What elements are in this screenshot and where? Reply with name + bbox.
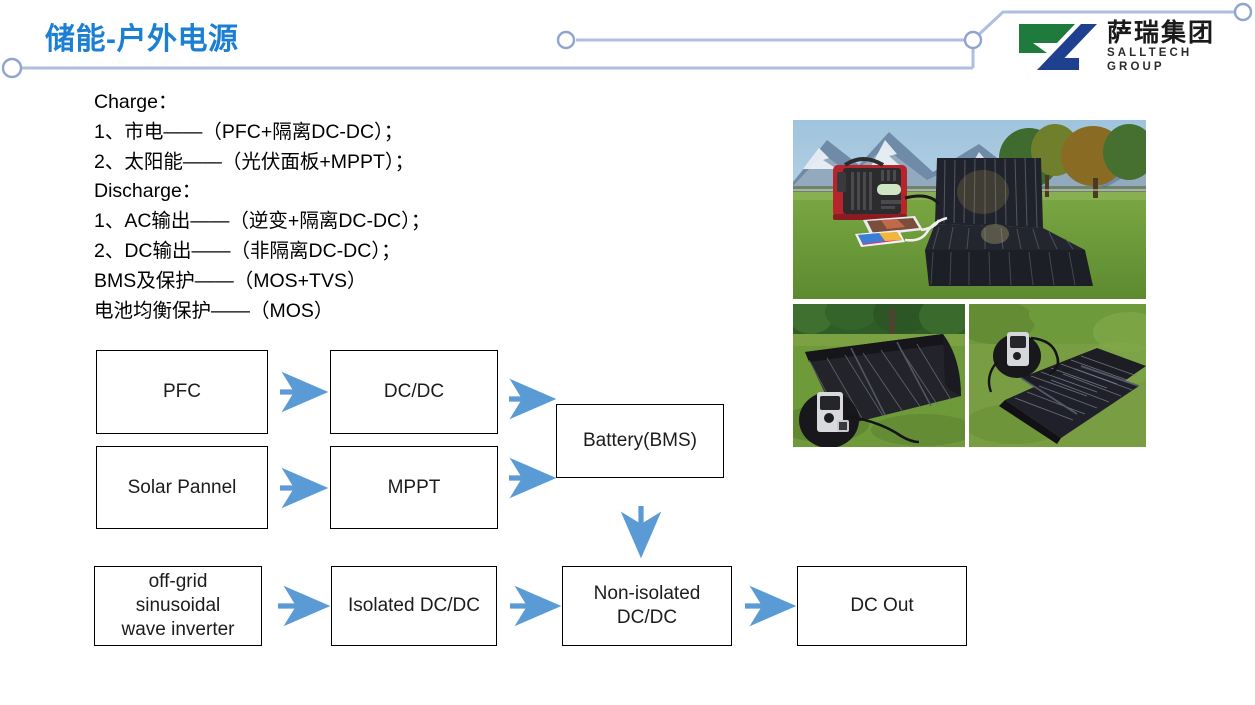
salltech-logo-mark — [1013, 20, 1099, 74]
logo-text-block: 萨瑞集团 SALLTECH GROUP — [1107, 20, 1245, 75]
company-logo: 萨瑞集团 SALLTECH GROUP — [1013, 18, 1245, 76]
flow-node-inverter-line1: off-grid — [149, 571, 208, 592]
flow-node-battery-bms[interactable]: Battery(BMS) — [556, 404, 724, 478]
flow-node-inverter-line2: sinusoidal — [136, 595, 221, 616]
flow-node-pfc-label: PFC — [163, 380, 201, 404]
spec-line-cell-balance: 电池均衡保护——（MOS） — [94, 297, 564, 327]
flow-node-isolated-dcdc[interactable]: Isolated DC/DC — [331, 566, 497, 646]
photo-folded-solar-panel — [793, 304, 965, 447]
flow-node-dc-out[interactable]: DC Out — [797, 566, 967, 646]
flow-node-dc-out-label: DC Out — [850, 594, 913, 618]
spec-line-mains: 1、市电——（PFC+隔离DC-DC）； — [94, 118, 564, 148]
flow-node-inverter-label: off-grid sinusoidal wave inverter — [122, 570, 235, 642]
flow-node-solar-pannel[interactable]: Solar Pannel — [96, 446, 268, 529]
flow-node-mppt[interactable]: MPPT — [330, 446, 498, 529]
flow-node-non-isolated-dcdc[interactable]: Non-isolated DC/DC — [562, 566, 732, 646]
logo-name-en: SALLTECH GROUP — [1107, 47, 1245, 75]
flow-node-dcdc[interactable]: DC/DC — [330, 350, 498, 434]
flow-node-mppt-label: MPPT — [388, 476, 441, 500]
flow-node-solar-pannel-label: Solar Pannel — [128, 476, 237, 500]
spec-line-bms-protection: BMS及保护——（MOS+TVS） — [94, 267, 564, 297]
product-photo-group — [793, 120, 1146, 447]
photo-power-station-outdoor — [793, 120, 1146, 299]
page-title: 储能-户外电源 — [45, 14, 239, 58]
spec-line-charge-heading: Charge： — [94, 88, 564, 118]
specification-text: Charge： 1、市电——（PFC+隔离DC-DC）； 2、太阳能——（光伏面… — [94, 88, 564, 327]
flow-node-non-isolated-line2: DC/DC — [617, 607, 677, 628]
spec-line-discharge-heading: Discharge： — [94, 177, 564, 207]
flow-node-non-isolated-line1: Non-isolated — [594, 583, 701, 604]
flow-node-dcdc-label: DC/DC — [384, 380, 444, 404]
flow-node-inverter-line3: wave inverter — [122, 619, 235, 640]
flow-node-non-isolated-dcdc-label: Non-isolated DC/DC — [594, 582, 701, 630]
logo-name-cn: 萨瑞集团 — [1107, 20, 1245, 46]
flow-node-battery-bms-label: Battery(BMS) — [583, 429, 697, 453]
spec-line-solar: 2、太阳能——（光伏面板+MPPT）； — [94, 148, 564, 178]
spec-line-ac-output: 1、AC输出——（逆变+隔离DC-DC）； — [94, 207, 564, 237]
slide-canvas: 储能-户外电源 萨瑞集团 SALLTECH GROUP Charge： 1、市电… — [0, 0, 1255, 705]
flow-node-isolated-dcdc-label: Isolated DC/DC — [348, 594, 480, 618]
spec-line-dc-output: 2、DC输出——（非隔离DC-DC）； — [94, 237, 564, 267]
photo-unfolded-solar-panel — [969, 304, 1146, 447]
flow-node-pfc[interactable]: PFC — [96, 350, 268, 434]
flow-node-inverter[interactable]: off-grid sinusoidal wave inverter — [94, 566, 262, 646]
